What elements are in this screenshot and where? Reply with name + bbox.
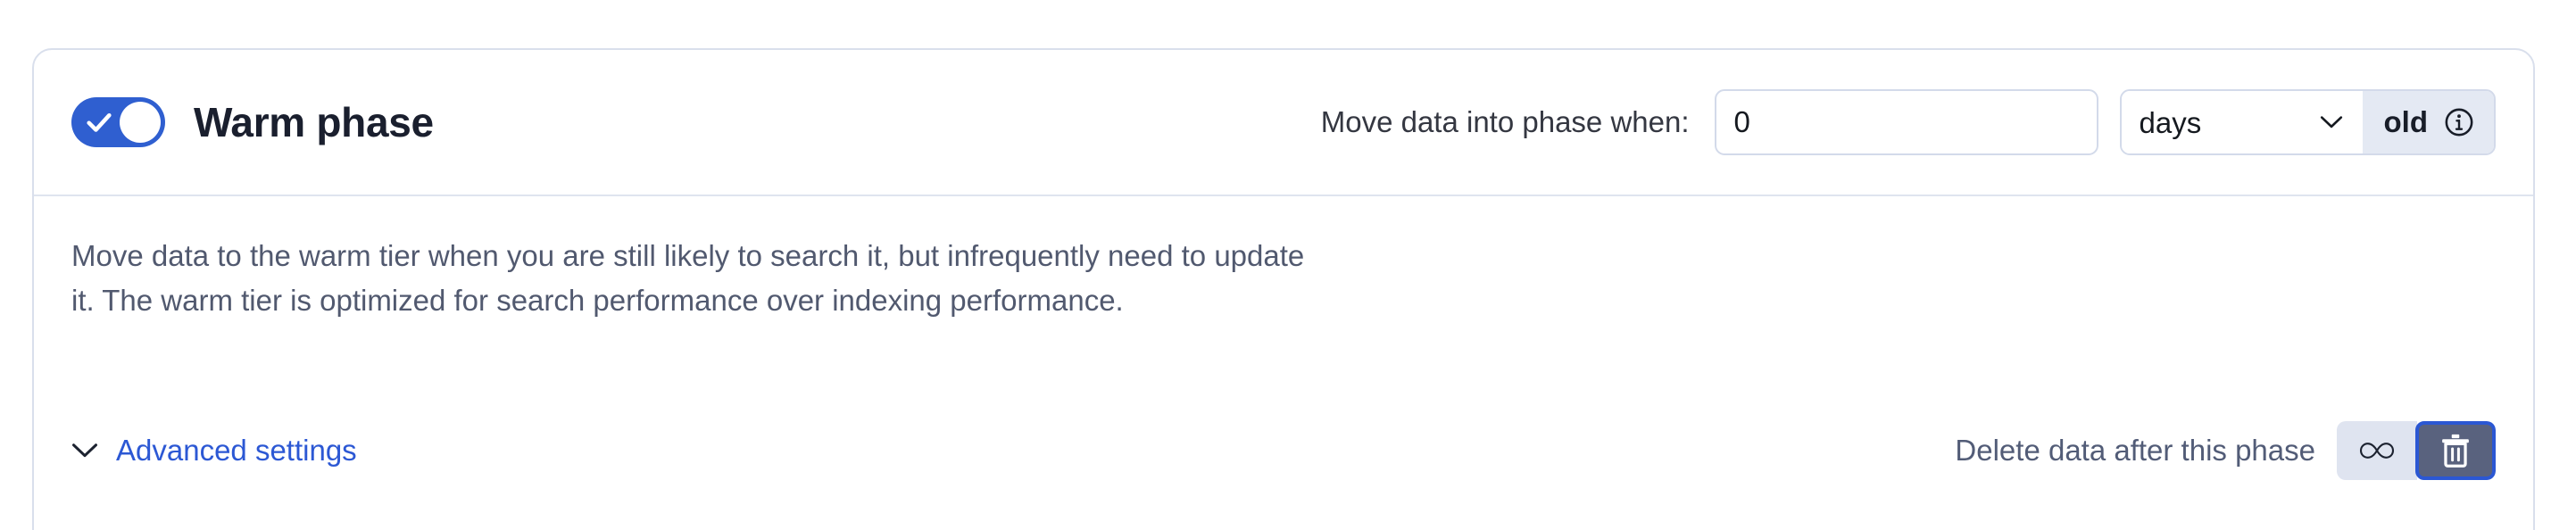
phase-card-header: Warm phase Move data into phase when: da… bbox=[34, 50, 2533, 196]
old-suffix-label: old bbox=[2384, 105, 2428, 139]
unit-append-group: old bbox=[2363, 91, 2494, 153]
toggle-knob bbox=[120, 102, 161, 143]
page-title: Warm phase bbox=[194, 98, 434, 146]
advanced-settings-label: Advanced settings bbox=[116, 434, 357, 468]
unit-select[interactable]: days bbox=[2122, 106, 2363, 139]
phase-description: Move data to the warm tier when you are … bbox=[71, 234, 1321, 323]
phase-footer-row: Advanced settings Delete data after this… bbox=[71, 421, 2496, 480]
phase-header-left: Warm phase bbox=[71, 97, 434, 147]
retention-control-group: Delete data after this phase bbox=[1955, 421, 2496, 480]
info-circle-icon[interactable] bbox=[2444, 107, 2474, 137]
retention-button-group bbox=[2337, 421, 2496, 480]
delete-data-button[interactable] bbox=[2415, 421, 2496, 480]
warm-phase-card: Warm phase Move data into phase when: da… bbox=[32, 48, 2535, 530]
trash-icon bbox=[2440, 433, 2471, 468]
warm-phase-page: Warm phase Move data into phase when: da… bbox=[0, 0, 2576, 530]
check-icon bbox=[84, 107, 114, 137]
min-age-unit-group: days old bbox=[2120, 89, 2496, 155]
phase-header-right: Move data into phase when: days old bbox=[1321, 89, 2496, 155]
infinity-icon bbox=[2358, 440, 2396, 461]
unit-select-wrap[interactable]: days bbox=[2122, 91, 2363, 153]
warm-phase-toggle[interactable] bbox=[71, 97, 165, 147]
phase-card-body: Move data to the warm tier when you are … bbox=[34, 196, 2533, 530]
min-age-input[interactable] bbox=[1715, 89, 2098, 155]
delete-data-label: Delete data after this phase bbox=[1955, 434, 2315, 468]
keep-forever-button[interactable] bbox=[2337, 421, 2417, 480]
move-data-label: Move data into phase when: bbox=[1321, 105, 1690, 139]
chevron-down-icon bbox=[71, 443, 98, 459]
advanced-settings-toggle[interactable]: Advanced settings bbox=[71, 434, 357, 468]
